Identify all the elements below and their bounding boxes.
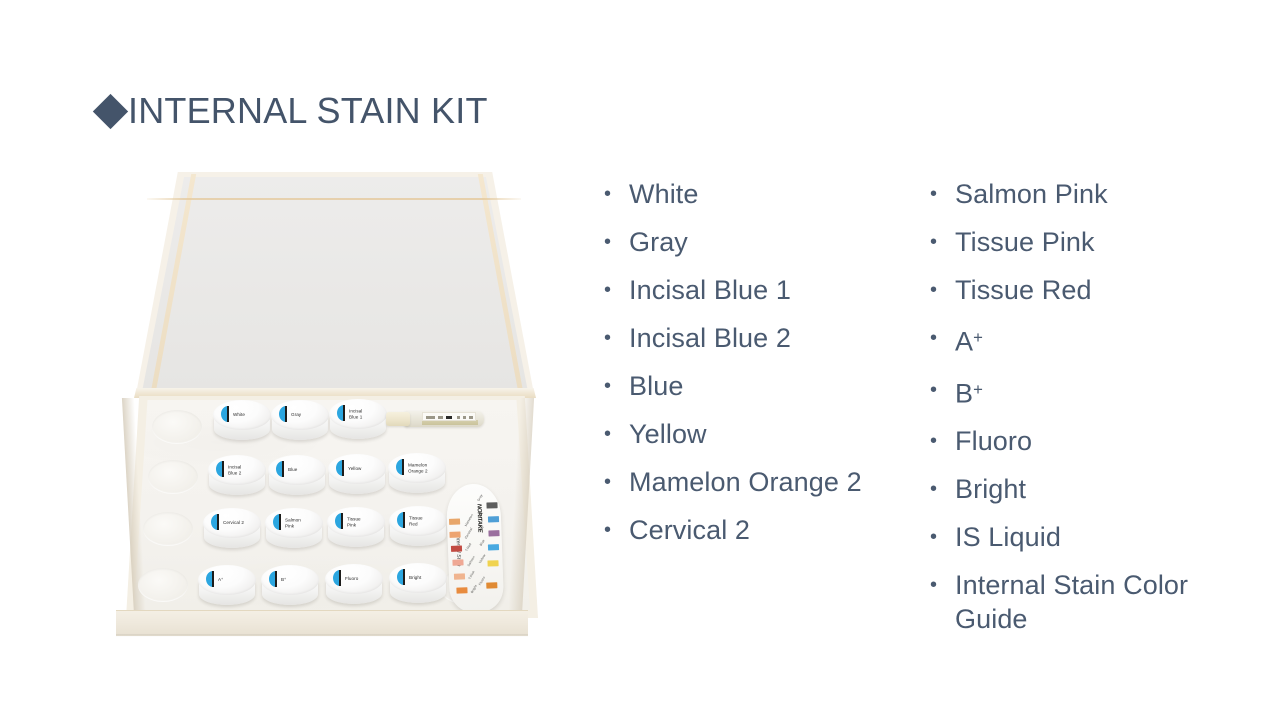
brand-logo-icon (273, 514, 282, 530)
bullet-dot-icon: • (604, 362, 629, 410)
list-item: • A+ (930, 314, 1260, 366)
bullet-dot-icon: • (930, 366, 955, 414)
color-swatch (488, 544, 499, 550)
list-item-label: Tissue Pink (955, 218, 1095, 266)
brand-logo-icon (216, 461, 225, 477)
vial-cap (386, 412, 410, 426)
brand-logo-icon (336, 460, 345, 476)
list-item: • Tissue Pink (930, 218, 1260, 266)
color-swatch (452, 559, 463, 565)
jar-label: Yellow (348, 466, 384, 472)
list-item-label: Fluoro (955, 417, 1032, 465)
brand-logo-icon (206, 571, 215, 587)
superscript-plus: + (973, 328, 983, 347)
list-item: • Cervical 2 (604, 506, 924, 554)
color-swatch (449, 531, 460, 537)
jar-lid: Cervical 2 (203, 508, 261, 538)
page-title-text: INTERNAL STAIN KIT (128, 93, 488, 129)
bullet-dot-icon: • (930, 314, 955, 362)
jar-label: IncisalBlue 1 (349, 408, 385, 419)
jar-lid: MamelonOrange 2 (388, 453, 446, 483)
superscript-plus: + (973, 380, 983, 399)
jar-incisal-blue-1[interactable]: IncisalBlue 1 (329, 399, 387, 443)
empty-well (152, 410, 202, 444)
brand-logo-icon (337, 405, 346, 421)
list-item-label: IS Liquid (955, 513, 1061, 561)
jar-lid: Gray (271, 400, 329, 430)
jar-a-plus[interactable]: A+ (198, 565, 256, 609)
empty-well (138, 568, 188, 602)
jar-lid: IncisalBlue 1 (329, 399, 387, 429)
jar-mamelon-orange-2[interactable]: MamelonOrange 2 (388, 453, 446, 497)
brand-logo-icon (279, 406, 288, 422)
internal-stain-color-guide[interactable]: NORITAKE Internal Stain Mamelon Cervical… (446, 483, 504, 613)
bullet-dot-icon: • (604, 506, 629, 554)
bullet-dot-icon: • (604, 266, 629, 314)
jar-label: TissuePink (347, 516, 383, 527)
jar-bright[interactable]: Bright (389, 563, 447, 607)
jar-lid: Bright (389, 563, 447, 593)
jar-label: B+ (281, 577, 317, 583)
bullet-dot-icon: • (930, 568, 955, 602)
list-item-label: Internal Stain Color Guide (955, 568, 1260, 636)
page-title: INTERNAL STAIN KIT (98, 86, 488, 136)
bullet-dot-icon: • (930, 170, 955, 218)
jar-label: Bright (409, 575, 445, 581)
jar-label: MamelonOrange 2 (408, 462, 444, 473)
color-swatch (487, 560, 498, 566)
color-swatch (454, 573, 465, 579)
bullet-dot-icon: • (930, 513, 955, 561)
color-swatch (488, 516, 499, 522)
bullet-dot-icon: • (604, 218, 629, 266)
list-item: • Tissue Red (930, 266, 1260, 314)
brand-logo-icon (335, 513, 344, 529)
brand-logo-icon (397, 569, 406, 585)
list-item: • Bright (930, 465, 1260, 513)
color-swatch (486, 502, 497, 508)
list-item-label: White (629, 170, 699, 218)
color-swatch (488, 530, 499, 536)
list-item: • Internal Stain Color Guide (930, 561, 1260, 636)
list-item-label: Tissue Red (955, 266, 1092, 314)
contents-column-right: • Salmon Pink • Tissue Pink • Tissue Red… (930, 170, 1260, 636)
list-item-label: B+ (955, 366, 983, 418)
bullet-dot-icon: • (604, 314, 629, 362)
brand-logo-icon (276, 461, 285, 477)
jar-lid: Yellow (328, 454, 386, 484)
jar-fluoro[interactable]: Fluoro (325, 564, 383, 608)
jar-lid: TissueRed (389, 506, 447, 536)
jar-incisal-blue-2[interactable]: IncisalBlue 2 (208, 455, 266, 499)
jar-lid: IncisalBlue 2 (208, 455, 266, 485)
bullet-dot-icon: • (930, 266, 955, 314)
jar-label: Blue (288, 467, 324, 473)
jar-white[interactable]: White (213, 400, 271, 444)
bullet-dot-icon: • (604, 458, 629, 506)
list-item-label: Incisal Blue 2 (629, 314, 791, 362)
jar-lid: White (213, 400, 271, 430)
brand-logo-icon (396, 459, 405, 475)
color-swatch (486, 582, 497, 588)
list-item: • Yellow (604, 410, 924, 458)
jar-label: White (233, 412, 269, 418)
brand-logo-icon (221, 406, 230, 422)
list-item: • Fluoro (930, 417, 1260, 465)
jar-label: Cervical 2 (223, 520, 259, 526)
bullet-dot-icon: • (930, 465, 955, 513)
brand-logo-icon (269, 571, 278, 587)
jar-label: TissueRed (409, 515, 445, 526)
jar-tissue-pink[interactable]: TissuePink (327, 507, 385, 551)
list-item: • White (604, 170, 924, 218)
jar-lid: Blue (268, 455, 326, 485)
jar-label: A+ (218, 577, 254, 583)
list-item-label: A+ (955, 314, 983, 366)
box-drop-shadow (116, 634, 528, 637)
list-item: • Incisal Blue 2 (604, 314, 924, 362)
list-item-label: Incisal Blue 1 (629, 266, 791, 314)
jar-tissue-red[interactable]: TissueRed (389, 506, 447, 550)
empty-well (143, 512, 193, 546)
brand-logo-icon (333, 570, 342, 586)
color-swatch (449, 519, 460, 525)
jar-label: Gray (291, 412, 327, 418)
bullet-dot-icon: • (604, 410, 629, 458)
brand-logo-icon (211, 514, 220, 530)
box-lid-crease (147, 198, 521, 200)
list-item: • IS Liquid (930, 513, 1260, 561)
jar-yellow[interactable]: Yellow (328, 454, 386, 498)
vial-label (422, 412, 476, 421)
contents-column-left: • White • Gray • Incisal Blue 1 • Incisa… (604, 170, 924, 554)
jar-lid: TissuePink (327, 507, 385, 537)
jar-lid: SalmonPink (265, 508, 323, 538)
jar-lid: A+ (198, 565, 256, 595)
jar-b-plus[interactable]: B+ (261, 565, 319, 609)
color-swatch (456, 587, 467, 593)
empty-well (148, 460, 198, 494)
list-item-label: Yellow (629, 410, 707, 458)
bullet-dot-icon: • (930, 417, 955, 465)
color-swatch (451, 545, 462, 551)
jar-gray[interactable]: Gray (271, 400, 329, 444)
list-item: • Gray (604, 218, 924, 266)
jar-salmon-pink[interactable]: SalmonPink (265, 508, 323, 552)
list-item-label: Bright (955, 465, 1026, 513)
jar-label: IncisalBlue 2 (228, 464, 264, 475)
box-lid-interior (140, 177, 530, 390)
list-item: • Salmon Pink (930, 170, 1260, 218)
jar-label: Fluoro (345, 576, 381, 582)
list-item: • B+ (930, 366, 1260, 418)
product-photo: White Gray IncisalBlue 1 IncisalBlue 2 (108, 172, 538, 662)
vial-liquid (422, 420, 478, 425)
bullet-dot-icon: • (604, 170, 629, 218)
jar-blue[interactable]: Blue (268, 455, 326, 499)
list-item-label: Mamelon Orange 2 (629, 458, 862, 506)
list-item: • Blue (604, 362, 924, 410)
jar-cervical-2[interactable]: Cervical 2 (203, 508, 261, 552)
jar-label: SalmonPink (285, 517, 321, 528)
is-liquid-bottle[interactable] (386, 410, 484, 428)
list-item: • Incisal Blue 1 (604, 266, 924, 314)
jar-lid: B+ (261, 565, 319, 595)
list-item-label: Blue (629, 362, 683, 410)
list-item-label: Cervical 2 (629, 506, 750, 554)
diamond-bullet-icon (93, 93, 128, 128)
box-front-wall (116, 610, 528, 636)
list-item-label: Salmon Pink (955, 170, 1108, 218)
list-item: • Mamelon Orange 2 (604, 458, 924, 506)
slide-root: INTERNAL STAIN KIT • White • Gray • Inci… (0, 0, 1276, 706)
bullet-dot-icon: • (930, 218, 955, 266)
brand-logo-icon (397, 512, 406, 528)
jar-lid: Fluoro (325, 564, 383, 594)
list-item-label: Gray (629, 218, 688, 266)
